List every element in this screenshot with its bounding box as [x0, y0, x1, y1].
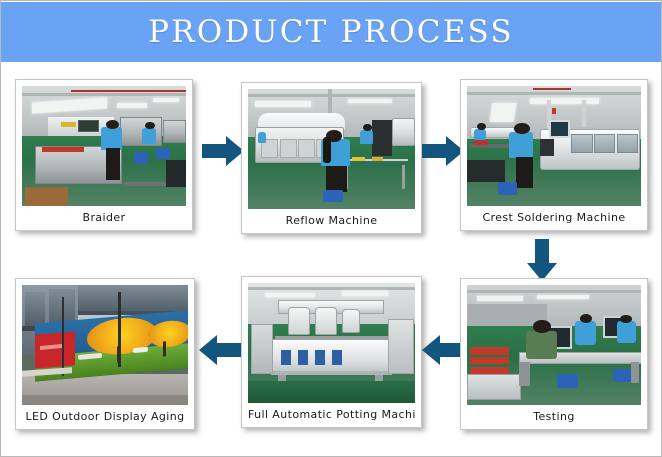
card-caption-potting: Full Automatic Potting Machine — [248, 403, 415, 427]
card-caption-testing: Testing — [467, 405, 641, 429]
process-step-card-led-aging[interactable]: LED Outdoor Display Aging — [15, 278, 195, 430]
page-title: PRODUCT PROCESS — [148, 14, 514, 50]
arrow-left-icon-testing-to-potting — [422, 331, 464, 369]
photo-factory-wave-soldering-machine — [467, 86, 641, 206]
arrow-left-icon-potting-to-led — [199, 331, 241, 369]
card-caption-reflow: Reflow Machine — [248, 209, 415, 233]
process-step-card-testing[interactable]: Testing — [460, 278, 648, 430]
arrow-right-icon-braider-to-reflow — [202, 132, 244, 170]
arrow-down-icon-crest-to-testing — [523, 239, 561, 281]
product-process-infographic: PRODUCT PROCESS — [0, 0, 662, 457]
arrow-right-icon-reflow-to-crest — [422, 132, 464, 170]
process-step-card-braider[interactable]: Braider — [15, 79, 193, 231]
process-step-card-reflow[interactable]: Reflow Machine — [241, 82, 422, 234]
photo-factory-potting-machine — [248, 283, 415, 403]
process-step-card-potting[interactable]: Full Automatic Potting Machine — [241, 276, 422, 428]
process-step-card-crest-soldering[interactable]: Crest Soldering Machine — [460, 79, 648, 231]
card-caption-crest-soldering: Crest Soldering Machine — [467, 206, 641, 230]
photo-factory-braider-machine-line — [22, 86, 186, 206]
photo-led-outdoor-billboard-autumn-tree — [22, 285, 188, 405]
photo-factory-reflow-oven — [248, 89, 415, 209]
card-caption-braider: Braider — [22, 206, 186, 230]
photo-factory-testing-bench — [467, 285, 641, 405]
page-header-banner: PRODUCT PROCESS — [1, 2, 661, 62]
card-caption-led-aging: LED Outdoor Display Aging — [22, 405, 188, 429]
